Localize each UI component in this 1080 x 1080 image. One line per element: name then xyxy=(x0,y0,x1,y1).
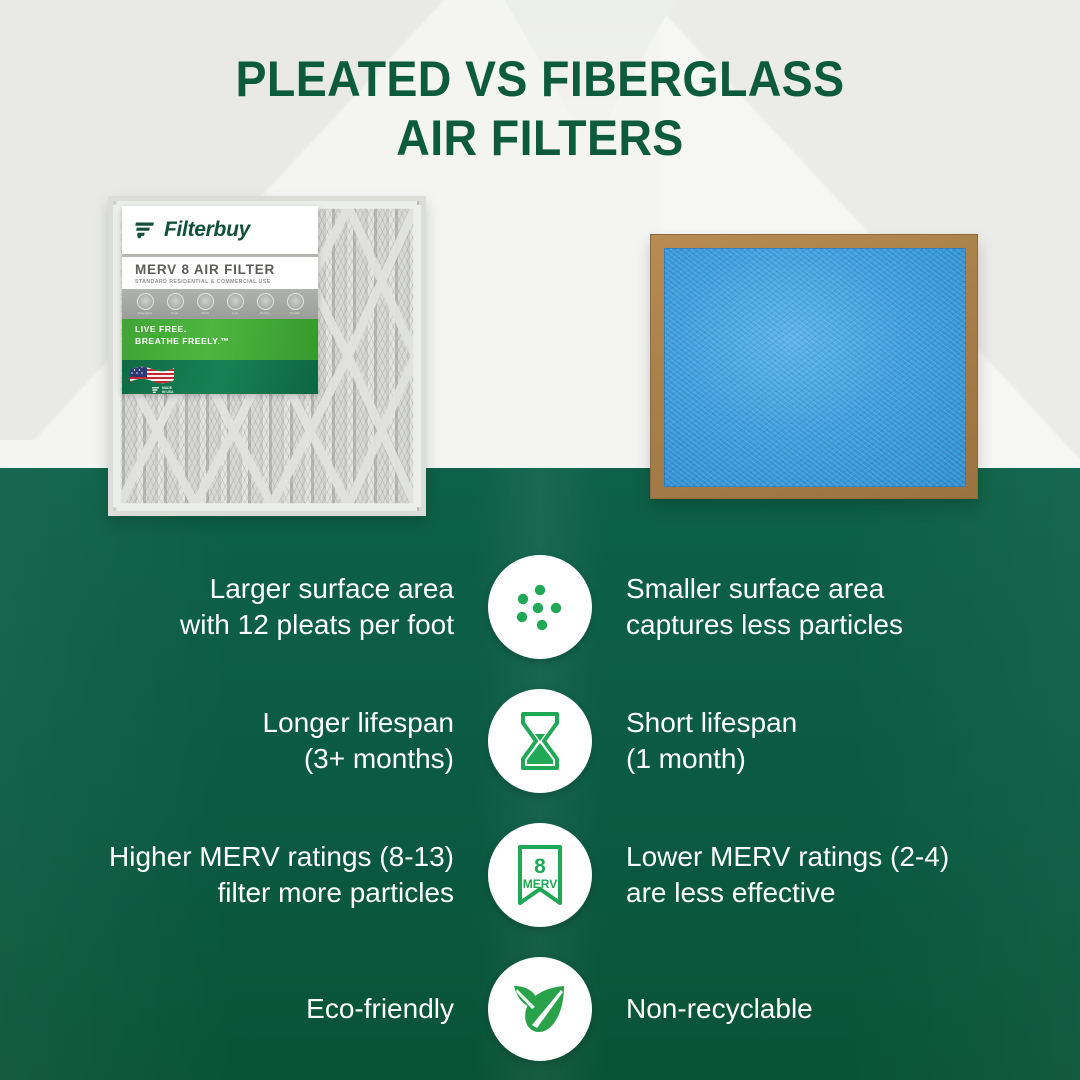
row-icon-badge: 8 MERV xyxy=(488,823,592,927)
feature-icon-dust: Dust xyxy=(167,293,184,315)
leaf-icon xyxy=(508,978,572,1040)
benefit-line-2: with 12 pleats per foot xyxy=(33,607,454,643)
fiberglass-media xyxy=(664,248,966,487)
drawback-line-1: Short lifespan xyxy=(626,705,1047,741)
merv-icon-label: MERV xyxy=(523,877,557,891)
pleated-benefit: Eco-friendly xyxy=(33,991,488,1027)
filterbuy-logo-icon xyxy=(135,222,157,239)
drawback-line-1: Lower MERV ratings (2-4) xyxy=(626,839,1047,875)
drawback-line-1: Smaller surface area xyxy=(626,571,1047,607)
pleated-filter-label: Filterbuy MERV 8 AIR FILTER STANDARD RES… xyxy=(122,206,318,394)
hourglass-icon xyxy=(511,710,569,772)
comparison-row: Longer lifespan (3+ months) Short lifesp… xyxy=(0,674,1080,808)
dust-icon xyxy=(167,293,184,310)
comparison-list: Larger surface area with 12 pleats per f… xyxy=(0,540,1080,1076)
particles-icon xyxy=(510,577,570,637)
feature-icon-pollen: Pollen xyxy=(257,293,274,315)
title-line-2: AIR FILTERS xyxy=(38,109,1042,168)
allergen-icon xyxy=(137,293,154,310)
pleated-filter-image: Filterbuy MERV 8 AIR FILTER STANDARD RES… xyxy=(108,196,426,516)
row-icon-badge xyxy=(488,555,592,659)
feature-icon-allergens: Allergens xyxy=(137,293,154,315)
merv-block: MERV 8 AIR FILTER STANDARD RESIDENTIAL &… xyxy=(122,254,318,289)
page-title: PLEATED VS FIBERGLASS AIR FILTERS xyxy=(38,50,1042,168)
feature-caption: Mold xyxy=(201,311,208,315)
drawback-line-2: (1 month) xyxy=(626,741,1047,777)
feature-icon-row: Allergens Dust Mold Lint Pollen xyxy=(122,289,318,319)
title-line-1: PLEATED VS FIBERGLASS xyxy=(236,51,845,107)
row-icon-badge xyxy=(488,957,592,1061)
comparison-row: Higher MERV ratings (8-13) filter more p… xyxy=(0,808,1080,942)
benefit-line-1: Higher MERV ratings (8-13) xyxy=(33,839,454,875)
drawback-line-2: are less effective xyxy=(626,875,1047,911)
lint-icon xyxy=(227,293,244,310)
brand-row: Filterbuy xyxy=(122,206,318,254)
tagline-band: LIVE FREE. BREATHE FREELY.™ xyxy=(122,319,318,360)
tagline-line-1: LIVE FREE. xyxy=(135,324,318,336)
benefit-line-1: Eco-friendly xyxy=(33,991,454,1027)
comparison-row: Larger surface area with 12 pleats per f… xyxy=(0,540,1080,674)
fiberglass-drawback: Lower MERV ratings (2-4) are less effect… xyxy=(592,839,1047,911)
brand-name: Filterbuy xyxy=(164,218,250,242)
feature-caption: Dander xyxy=(289,311,300,315)
label-footer: MADE IN USA xyxy=(122,360,318,394)
benefit-line-2: (3+ months) xyxy=(33,741,454,777)
pleated-benefit: Longer lifespan (3+ months) xyxy=(33,705,488,777)
merv-title: MERV 8 AIR FILTER xyxy=(135,262,318,277)
merv-subtitle: STANDARD RESIDENTIAL & COMMERCIAL USE xyxy=(135,279,318,285)
feature-icon-mold: Mold xyxy=(197,293,214,315)
mold-icon xyxy=(197,293,214,310)
pollen-icon xyxy=(257,293,274,310)
feature-caption: Allergens xyxy=(138,311,152,315)
feature-caption: Pollen xyxy=(260,311,270,315)
benefit-line-2: filter more particles xyxy=(33,875,454,911)
feature-icon-dander: Dander xyxy=(287,293,304,315)
made-in-usa-mark-icon xyxy=(152,387,160,394)
feature-caption: Dust xyxy=(172,311,179,315)
benefit-line-1: Longer lifespan xyxy=(33,705,454,741)
pleated-benefit: Larger surface area with 12 pleats per f… xyxy=(33,571,488,643)
fiberglass-drawback: Short lifespan (1 month) xyxy=(592,705,1047,777)
fiberglass-drawback: Smaller surface area captures less parti… xyxy=(592,571,1047,643)
drawback-line-2: captures less particles xyxy=(626,607,1047,643)
feature-caption: Lint xyxy=(232,311,238,315)
drawback-line-1: Non-recyclable xyxy=(626,991,1047,1027)
made-in-line-2: IN USA xyxy=(162,391,174,394)
benefit-line-1: Larger surface area xyxy=(33,571,454,607)
merv-icon-value: 8 xyxy=(534,855,546,878)
feature-icon-lint: Lint xyxy=(227,293,244,315)
row-icon-badge xyxy=(488,689,592,793)
comparison-row: Eco-friendly Non-recyclable xyxy=(0,942,1080,1076)
tagline-line-2: BREATHE FREELY.™ xyxy=(135,336,318,348)
fiberglass-drawback: Non-recyclable xyxy=(592,991,1047,1027)
made-in-usa-badge: MADE IN USA xyxy=(152,387,174,394)
infographic-page: PLEATED VS FIBERGLASS AIR FILTERS xyxy=(0,0,1080,1080)
dander-icon xyxy=(287,293,304,310)
pleated-benefit: Higher MERV ratings (8-13) filter more p… xyxy=(33,839,488,911)
fiberglass-filter-image xyxy=(650,234,978,499)
merv-ribbon-icon: 8 MERV xyxy=(512,843,568,907)
